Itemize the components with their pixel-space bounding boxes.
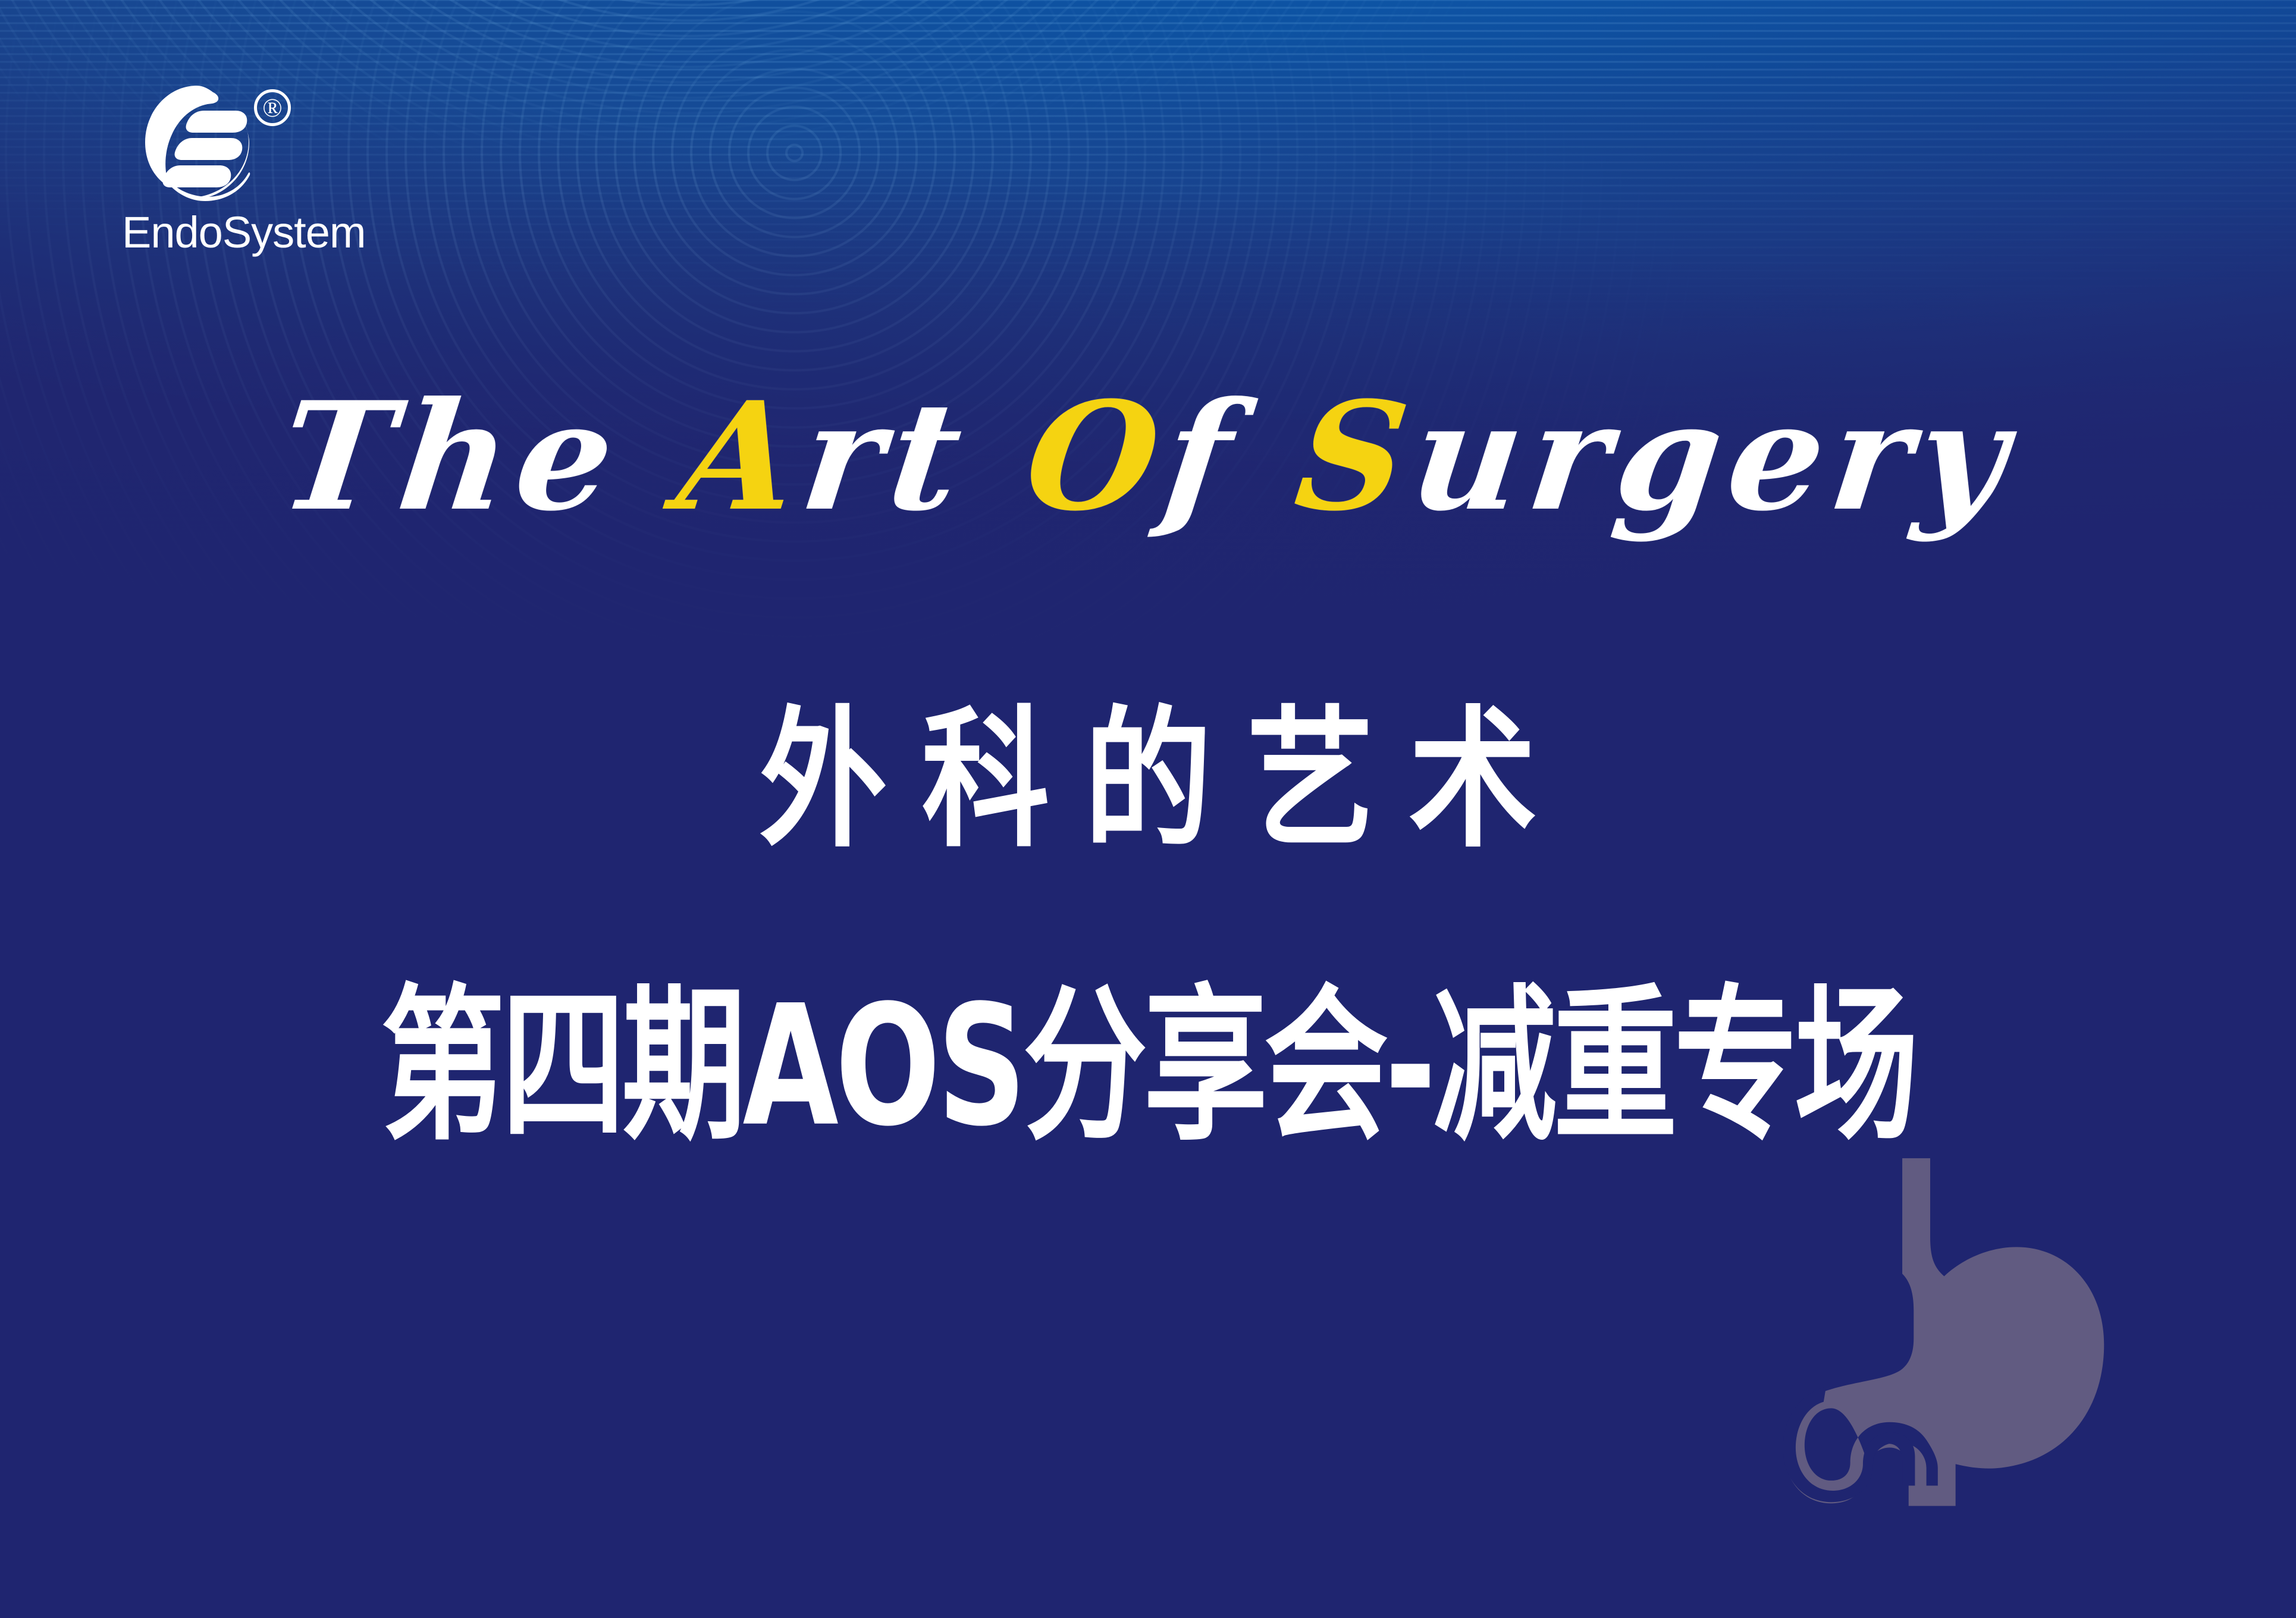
title-en-rt: rt: [793, 369, 1039, 544]
event-headline: 第四期AOS分享会-减重专场: [34, 931, 2262, 1171]
poster-canvas: ® EndoSystem The Art Of Surgery 外科的艺术 第四…: [0, 0, 2296, 1618]
endosystem-logo-icon: [137, 83, 256, 202]
brand-name: EndoSystem: [122, 207, 366, 258]
title-english: The Art Of Surgery: [0, 369, 2296, 544]
title-en-o: O: [1017, 369, 1177, 544]
registered-trademark-icon: ®: [254, 89, 291, 126]
title-en-the: The: [271, 369, 691, 544]
brand-logo: ® EndoSystem: [122, 83, 431, 250]
title-en-urgery: urgery: [1403, 369, 2024, 544]
title-en-f: f: [1155, 369, 1309, 544]
title-en-s: S: [1288, 369, 1425, 544]
title-chinese: 外科的艺术: [0, 657, 2296, 876]
title-en-a: A: [670, 369, 815, 544]
stomach-icon: [1740, 1148, 2121, 1529]
